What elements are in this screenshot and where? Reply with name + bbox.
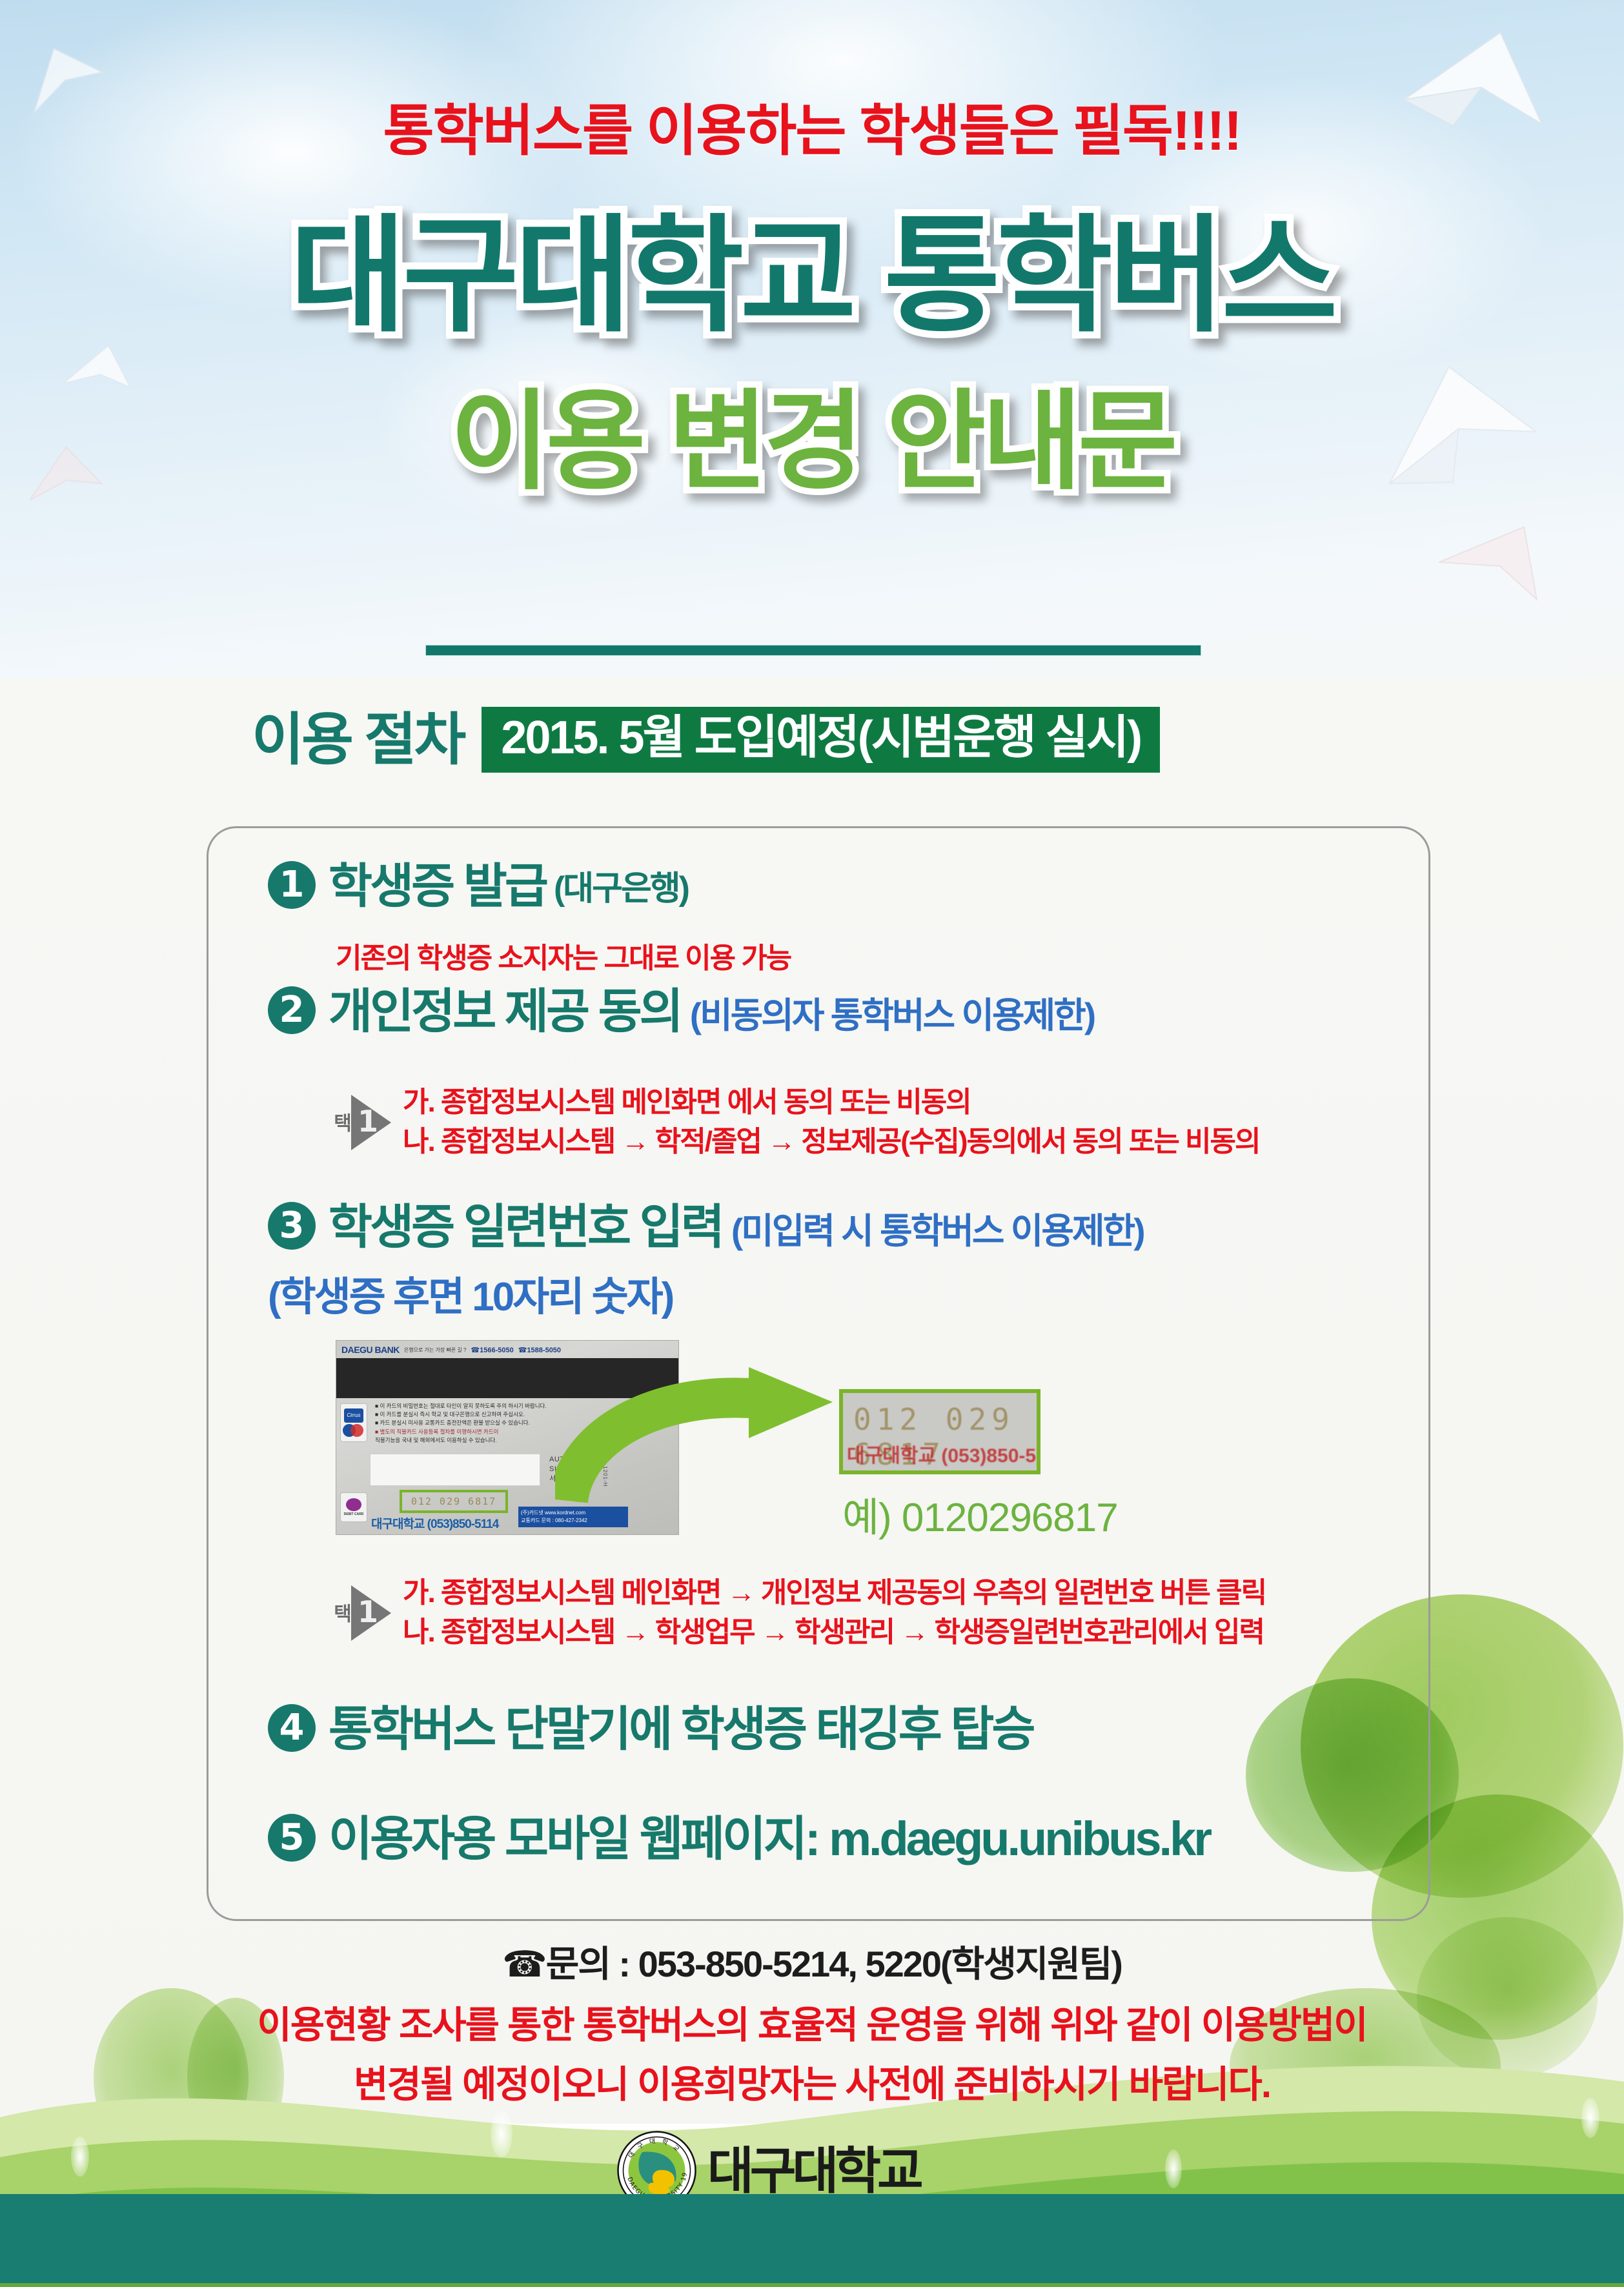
- footer-bar: [0, 2194, 1624, 2287]
- step-1-title: 학생증 발급: [329, 861, 546, 911]
- step-3-note: (미입력 시 통학버스 이용제한): [731, 1202, 1144, 1259]
- pick-label: 택: [330, 1113, 350, 1132]
- poster-title-line2: 이용 변경 안내문: [0, 387, 1624, 496]
- title-divider: [426, 645, 1201, 655]
- step-3: 3 학생증 일련번호 입력 (미입력 시 통학버스 이용제한): [268, 1202, 1144, 1259]
- kordnet-site: www.kordnet.com: [545, 1510, 585, 1516]
- section-badge: 2015. 5월 도입예정(시범운행 실시): [482, 707, 1160, 773]
- kordnet-tel: 교통카드 문의 : 080-427-2342: [521, 1517, 625, 1525]
- debit-card-logo: DEBIT CARD: [340, 1492, 367, 1522]
- step-number-3: 3: [268, 1202, 316, 1250]
- step-number-1: 1: [268, 861, 316, 909]
- signature-panel: [370, 1454, 540, 1486]
- step-4-title: 통학버스 단말기에 학생증 태깅후 탑승: [329, 1704, 1033, 1754]
- step-2-title: 개인정보 제공 동의: [329, 986, 681, 1037]
- bank-tel-1: ☎1566-5050: [471, 1346, 513, 1354]
- maestro-icon: [343, 1423, 365, 1438]
- kordnet-name: (주)카드넷: [521, 1510, 543, 1516]
- step-3-subtitle: (학생증 후면 10자리 숫자): [268, 1264, 673, 1322]
- step-2-option-a: 가. 종합정보시스템 메인화면 에서 동의 또는 비동의: [403, 1083, 1259, 1123]
- step-5-title: 이용자용 모바일 웹페이지: m.daegu.unibus.kr: [329, 1814, 1210, 1864]
- pick-label: 택: [330, 1603, 350, 1622]
- card-serial-number: 012 029 6817: [400, 1490, 508, 1513]
- card-network-logos: Cirrus: [340, 1403, 367, 1442]
- poster-root: 통학버스를 이용하는 학생들은 필독!!!! 대구대학교 통학버스 이용 변경 …: [0, 0, 1624, 2287]
- section-label: 이용 절차: [252, 711, 463, 768]
- bank-tel-2: ☎1588-5050: [518, 1346, 561, 1354]
- step-3-options: 가. 종합정보시스템 메인화면 → 개인정보 제공동의 우측의 일련번호 버튼 …: [403, 1574, 1266, 1652]
- pick-triangle-icon: 1: [351, 1585, 391, 1641]
- bank-brand: DAEGU BANK: [341, 1345, 400, 1355]
- step-5: 5 이용자용 모바일 웹페이지: m.daegu.unibus.kr: [268, 1814, 1210, 1864]
- step-1-subnote: 기존의 학생증 소지자는 그대로 이용 가능: [336, 935, 791, 976]
- callout-example-text: 예) 0120296817: [842, 1485, 1118, 1543]
- step-3-option-b: 나. 종합정보시스템 → 학생업무 → 학생관리 → 학생증일련번호관리에서 입…: [403, 1613, 1266, 1652]
- bank-card-top-strip: DAEGU BANK 은행으로 가는 가장 빠른 길 ? ☎1566-5050 …: [336, 1341, 678, 1357]
- warning-line-1: 이용현황 조사를 통한 통학버스의 효율적 운영을 위해 위와 같이 이용방법이: [0, 1995, 1624, 2049]
- contact-line: ☎문의 : 053-850-5214, 5220(학생지원팀): [0, 1935, 1624, 1987]
- section-header: 이용 절차 2015. 5월 도입예정(시범운행 실시): [252, 707, 1160, 773]
- poster-title-line1: 대구대학교 통학버스: [0, 213, 1624, 340]
- sparkle-icon: [1165, 2150, 1182, 2188]
- serial-callout-box: 012 029 6817 대구대학교 (053)850-5: [839, 1389, 1040, 1474]
- step-2-options: 가. 종합정보시스템 메인화면 에서 동의 또는 비동의 나. 종합정보시스템 …: [403, 1083, 1259, 1161]
- step-number-2: 2: [268, 986, 316, 1034]
- step-2-note: (비동의자 통학버스 이용제한): [690, 986, 1094, 1043]
- sparkle-icon: [491, 2111, 513, 2157]
- callout-magnified-sub: 대구대학교 (053)850-5: [847, 1439, 1036, 1468]
- step-2-pick-one: 택 1 가. 종합정보시스템 메인화면 에서 동의 또는 비동의 나. 종합정보…: [330, 1083, 1259, 1161]
- kicker-text: 통학버스를 이용하는 학생들은 필독!!!!: [0, 85, 1624, 166]
- step-3-option-a: 가. 종합정보시스템 메인화면 → 개인정보 제공동의 우측의 일련번호 버튼 …: [403, 1574, 1266, 1613]
- step-3-pick-one: 택 1 가. 종합정보시스템 메인화면 → 개인정보 제공동의 우측의 일련번호…: [330, 1574, 1266, 1652]
- step-1-note: (대구은행): [554, 861, 688, 915]
- step-2-option-b: 나. 종합정보시스템 → 학적/졸업 → 정보제공(수집)동의에서 동의 또는 …: [403, 1123, 1259, 1162]
- cirrus-icon: Cirrus: [344, 1408, 363, 1423]
- step-3-title: 학생증 일련번호 입력: [329, 1202, 722, 1252]
- pick-number: 1: [358, 1106, 378, 1136]
- warning-line-2: 변경될 예정이오니 이용희망자는 사전에 준비하시기 바랍니다.: [0, 2054, 1624, 2108]
- step-number-4: 4: [268, 1704, 316, 1752]
- pick-triangle-icon: 1: [351, 1095, 391, 1150]
- green-arrow-icon: [555, 1362, 839, 1510]
- step-1: 1 학생증 발급 (대구은행): [268, 861, 688, 915]
- sparkle-icon: [71, 2137, 89, 2177]
- step-2: 2 개인정보 제공 동의 (비동의자 통학버스 이용제한): [268, 986, 1094, 1043]
- bank-slogan: 은행으로 가는 가장 빠른 길 ?: [404, 1347, 467, 1354]
- debit-label: DEBIT CARD: [344, 1512, 364, 1516]
- step-number-5: 5: [268, 1814, 316, 1862]
- pick-number: 1: [358, 1597, 378, 1627]
- university-name: 대구대학교: [707, 2146, 920, 2196]
- card-university-line: 대구대학교 (053)850-5114: [371, 1514, 498, 1532]
- step-4: 4 통학버스 단말기에 학생증 태깅후 탑승: [268, 1704, 1033, 1754]
